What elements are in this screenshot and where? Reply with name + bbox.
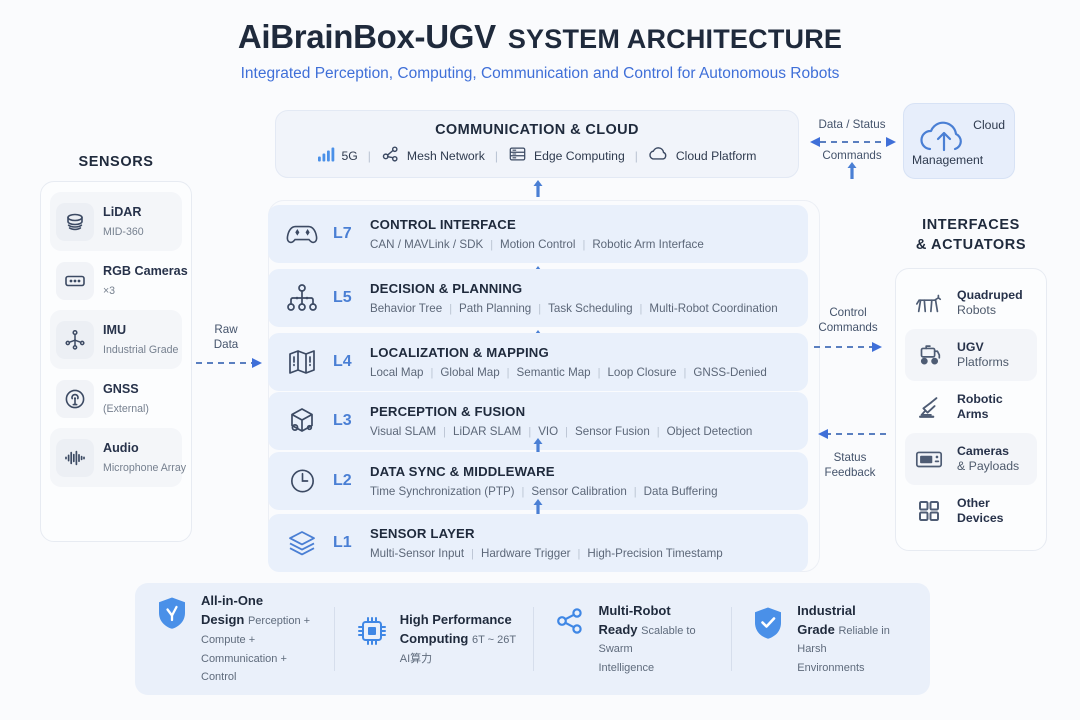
robotic-arm-icon xyxy=(910,388,948,426)
layer-name: DATA SYNC & MIDDLEWARE xyxy=(370,464,555,479)
feature-multi-robot-ready: Multi-Robot Ready Scalable to Swarm Inte… xyxy=(533,602,732,677)
sensor-sub: Microphone Array xyxy=(103,462,186,474)
sensor-text: GNSS (External) xyxy=(103,380,176,418)
title-rest: SYSTEM ARCHITECTURE xyxy=(508,24,842,55)
feature-text: All-in-One Design Perception + Compute +… xyxy=(201,592,318,685)
layer-tag: Global Map xyxy=(440,366,499,380)
feature-title-line2: Ready xyxy=(599,622,638,637)
comm-item-cloud-platform[interactable]: Cloud Platform xyxy=(648,146,757,165)
layer-code: L5 xyxy=(333,289,359,307)
feature-title-line2: Grade xyxy=(797,622,835,637)
sensor-name: LiDAR xyxy=(103,205,141,219)
feature-text: High Performance Computing 6T ~ 26T AI算力 xyxy=(400,611,517,667)
feature-sub-line2: Communication + Control xyxy=(201,653,287,684)
layer-tags: CAN / MAVLink / SDK| Motion Control| Rob… xyxy=(370,238,704,252)
feature-all-in-one-design: All-in-One Design Perception + Compute +… xyxy=(135,592,334,685)
flow-label-line1: Raw xyxy=(214,323,237,336)
interface-name: Robotic Arms xyxy=(957,392,1003,421)
interface-name: Cameras xyxy=(957,444,1009,458)
layer-text: CONTROL INTERFACE CAN / MAVLink / SDK| M… xyxy=(370,215,704,252)
comm-item-5g[interactable]: 5G xyxy=(318,147,358,165)
gamepad-icon xyxy=(282,220,322,248)
sensor-sub: ×3 xyxy=(103,285,115,297)
interface-text: UGV Platforms xyxy=(957,340,1009,371)
comm-item-edge-computing[interactable]: Edge Computing xyxy=(508,145,625,166)
page-header: AiBrainBox-UGV SYSTEM ARCHITECTURE Integ… xyxy=(0,18,1080,83)
cloud-management-box[interactable]: Cloud Management xyxy=(903,103,1015,179)
layer-tag: CAN / MAVLink / SDK xyxy=(370,238,483,252)
layer-tag: LiDAR SLAM xyxy=(453,425,521,439)
quadruped-robot-icon xyxy=(910,284,948,322)
layer-l5[interactable]: L5 DECISION & PLANNING Behavior Tree| Pa… xyxy=(268,269,808,327)
architecture-diagram: AiBrainBox-UGV SYSTEM ARCHITECTURE Integ… xyxy=(0,0,1080,720)
flow-label-line2: Commands xyxy=(818,321,877,334)
layer-tag: Sensor Fusion xyxy=(575,425,650,439)
layer-text: LOCALIZATION & MAPPING Local Map| Global… xyxy=(370,343,767,380)
layer-tag: Multi-Robot Coordination xyxy=(649,302,777,316)
layer-tag: High-Precision Timestamp xyxy=(587,547,722,561)
layer-code: L3 xyxy=(333,412,359,430)
feature-text: Industrial Grade Reliable in Harsh Envir… xyxy=(797,602,914,677)
feature-industrial-grade: Industrial Grade Reliable in Harsh Envir… xyxy=(731,602,930,677)
layer-tags: Visual SLAM| LiDAR SLAM| VIO| Sensor Fus… xyxy=(370,425,752,439)
divider: | xyxy=(635,149,638,163)
interfaces-panel: Quadruped Robots UGV Platforms xyxy=(895,268,1047,551)
layer-tag: Motion Control xyxy=(500,238,575,252)
interface-sub: & Payloads xyxy=(957,459,1019,473)
gnss-icon xyxy=(56,380,94,418)
communication-title: COMMUNICATION & CLOUD xyxy=(435,122,639,138)
grid-squares-icon xyxy=(910,492,948,530)
mesh-network-icon xyxy=(381,145,400,167)
sensor-name: Audio xyxy=(103,441,139,455)
layer-text: SENSOR LAYER Multi-Sensor Input| Hardwar… xyxy=(370,524,723,561)
lidar-icon xyxy=(56,203,94,241)
layer-code: L7 xyxy=(333,225,359,243)
interface-name: Quadruped xyxy=(957,288,1023,302)
sensor-item-gnss[interactable]: GNSS (External) xyxy=(50,369,182,428)
feature-title-line1: Industrial xyxy=(797,603,856,618)
layer-tag: Task Scheduling xyxy=(548,302,632,316)
sensor-item-rgb-cameras[interactable]: RGB Cameras ×3 xyxy=(50,251,182,310)
map-icon xyxy=(282,347,322,377)
layer-tag: Sensor Calibration xyxy=(531,485,626,499)
edge-server-icon xyxy=(508,145,527,166)
layer-tag: Behavior Tree xyxy=(370,302,442,316)
layer-tag: Time Synchronization (PTP) xyxy=(370,485,515,499)
layer-tags: Local Map| Global Map| Semantic Map| Loo… xyxy=(370,366,767,380)
interfaces-heading-line1: INTERFACES xyxy=(922,217,1020,233)
layer-code: L1 xyxy=(333,534,359,552)
interfaces-heading-line2: & ACTUATORS xyxy=(916,237,1026,253)
layer-name: SENSOR LAYER xyxy=(370,526,475,541)
audio-wave-icon xyxy=(56,439,94,477)
feature-sub-line2: Intelligence xyxy=(599,662,655,674)
interface-text: Cameras & Payloads xyxy=(957,444,1019,475)
sensor-sub: (External) xyxy=(103,403,149,415)
layer-tag: Visual SLAM xyxy=(370,425,436,439)
features-bar: All-in-One Design Perception + Compute +… xyxy=(135,583,930,695)
layer-l1[interactable]: L1 SENSOR LAYER Multi-Sensor Input| Hard… xyxy=(268,514,808,572)
interface-text: Quadruped Robots xyxy=(957,288,1023,319)
interface-text: Robotic Arms xyxy=(957,392,1032,423)
comm-label: Mesh Network xyxy=(407,149,485,163)
layer-tag: GNSS-Denied xyxy=(693,366,766,380)
layer-tag: Local Map xyxy=(370,366,424,380)
sensor-item-lidar[interactable]: LiDAR MID-360 xyxy=(50,192,182,251)
feature-title-line2: Computing xyxy=(400,631,469,646)
interface-sub: Platforms xyxy=(957,355,1009,369)
cloud-label-top: Cloud xyxy=(973,118,1005,132)
layer-l4[interactable]: L4 LOCALIZATION & MAPPING Local Map| Glo… xyxy=(268,333,808,391)
comm-label: Edge Computing xyxy=(534,149,625,163)
comm-item-mesh-network[interactable]: Mesh Network xyxy=(381,145,485,167)
feature-title-line2: Design xyxy=(201,612,244,627)
sensor-text: LiDAR MID-360 xyxy=(103,203,176,241)
layer-tags: Behavior Tree| Path Planning| Task Sched… xyxy=(370,302,778,316)
flow-label-raw-data: Raw Data xyxy=(198,322,254,352)
layer-name: CONTROL INTERFACE xyxy=(370,217,516,232)
layer-tag: Semantic Map xyxy=(517,366,591,380)
feature-title-line1: All-in-One xyxy=(201,593,263,608)
sensor-sub: Industrial Grade xyxy=(103,344,178,356)
flow-arrow-commands-up xyxy=(845,160,859,185)
share-nodes-icon xyxy=(555,602,587,641)
flow-label-line1: Control xyxy=(829,306,866,319)
clock-icon xyxy=(282,466,322,496)
feature-sub-line2: Environments xyxy=(797,662,864,674)
feature-title-line1: Multi-Robot xyxy=(599,603,671,618)
camera-payload-icon xyxy=(910,440,948,478)
interfaces-heading: INTERFACES & ACTUATORS xyxy=(895,216,1047,255)
title-brand: AiBrainBox-UGV xyxy=(238,18,496,56)
sensor-name: RGB Cameras xyxy=(103,264,188,278)
imu-icon xyxy=(56,321,94,359)
communication-cloud-bar: COMMUNICATION & CLOUD 5G | xyxy=(275,110,799,178)
layer-code: L2 xyxy=(333,472,359,490)
sensor-sub: MID-360 xyxy=(103,226,144,238)
flow-arrow-up xyxy=(531,178,545,198)
sensor-item-imu[interactable]: IMU Industrial Grade xyxy=(50,310,182,369)
flow-arrow-control-commands xyxy=(814,340,886,359)
shield-tick-icon xyxy=(753,602,785,645)
interface-item-quadruped[interactable]: Quadruped Robots xyxy=(905,277,1037,329)
layer-tag: Robotic Arm Interface xyxy=(592,238,703,252)
ugv-robot-icon xyxy=(910,336,948,374)
divider: | xyxy=(368,149,371,163)
layer-name: PERCEPTION & FUSION xyxy=(370,404,525,419)
layer-code: L4 xyxy=(333,353,359,371)
layer-text: DATA SYNC & MIDDLEWARE Time Synchronizat… xyxy=(370,462,718,499)
feature-text: Multi-Robot Ready Scalable to Swarm Inte… xyxy=(599,602,716,677)
flow-label-control-commands: Control Commands xyxy=(810,305,886,335)
cloud-label-bottom: Management xyxy=(912,153,983,167)
sensor-name: IMU xyxy=(103,323,126,337)
layer-tag: Loop Closure xyxy=(607,366,676,380)
communication-items: 5G | Mesh Network | xyxy=(318,145,757,167)
divider: | xyxy=(495,149,498,163)
camera-icon xyxy=(56,262,94,300)
interface-item-other-devices[interactable]: Other Devices xyxy=(905,485,1037,537)
sensors-heading: SENSORS xyxy=(40,153,192,173)
interface-sub: Robots xyxy=(957,303,996,317)
sensor-text: RGB Cameras ×3 xyxy=(103,262,188,300)
layers-stack-icon xyxy=(282,528,322,558)
layer-tag: Multi-Sensor Input xyxy=(370,547,464,561)
flow-label-data-status: Data / Status xyxy=(808,117,896,132)
comm-label: 5G xyxy=(342,149,358,163)
interface-item-cameras-payloads[interactable]: Cameras & Payloads xyxy=(905,433,1037,485)
flow-arrow-raw-data xyxy=(196,356,266,375)
signal-bars-icon xyxy=(318,147,335,165)
cube-scan-icon xyxy=(282,406,322,436)
comm-label: Cloud Platform xyxy=(676,149,757,163)
layer-tag: Hardware Trigger xyxy=(481,547,571,561)
layer-tag: Data Buffering xyxy=(644,485,718,499)
decision-tree-icon xyxy=(282,283,322,313)
layer-name: DECISION & PLANNING xyxy=(370,281,522,296)
sensor-text: IMU Industrial Grade xyxy=(103,321,178,359)
flow-label-line2: Feedback xyxy=(825,466,876,479)
layer-tag: Path Planning xyxy=(459,302,531,316)
flow-arrow-status-feedback xyxy=(814,427,886,446)
layer-name: LOCALIZATION & MAPPING xyxy=(370,345,549,360)
flow-label-line1: Status xyxy=(834,451,867,464)
sensors-panel: LiDAR MID-360 RGB Cameras ×3 xyxy=(40,181,192,542)
shield-check-icon xyxy=(157,592,189,635)
sensor-item-audio[interactable]: Audio Microphone Array xyxy=(50,428,182,487)
layer-tags: Multi-Sensor Input| Hardware Trigger| Hi… xyxy=(370,547,723,561)
cpu-chip-icon xyxy=(356,611,388,652)
layer-tag: Object Detection xyxy=(667,425,753,439)
flow-label-line2: Data xyxy=(214,338,239,351)
feature-high-performance-computing: High Performance Computing 6T ~ 26T AI算力 xyxy=(334,611,533,667)
interface-item-ugv[interactable]: UGV Platforms xyxy=(905,329,1037,381)
sensor-text: Audio Microphone Array xyxy=(103,439,186,477)
cloud-icon xyxy=(648,146,669,165)
interface-name: UGV xyxy=(957,340,984,354)
interface-text: Other Devices xyxy=(957,496,1032,527)
flow-label-status-feedback: Status Feedback xyxy=(812,450,888,480)
feature-title-line1: High Performance xyxy=(400,612,512,627)
page-title: AiBrainBox-UGV SYSTEM ARCHITECTURE xyxy=(0,18,1080,56)
layer-l7[interactable]: L7 CONTROL INTERFACE CAN / MAVLink / SDK… xyxy=(268,205,808,263)
interface-name: Other Devices xyxy=(957,496,1004,525)
sensor-name: GNSS xyxy=(103,382,139,396)
layer-text: DECISION & PLANNING Behavior Tree| Path … xyxy=(370,279,778,316)
page-subtitle: Integrated Perception, Computing, Commun… xyxy=(0,65,1080,83)
layer-text: PERCEPTION & FUSION Visual SLAM| LiDAR S… xyxy=(370,402,752,439)
interface-item-robotic-arms[interactable]: Robotic Arms xyxy=(905,381,1037,433)
